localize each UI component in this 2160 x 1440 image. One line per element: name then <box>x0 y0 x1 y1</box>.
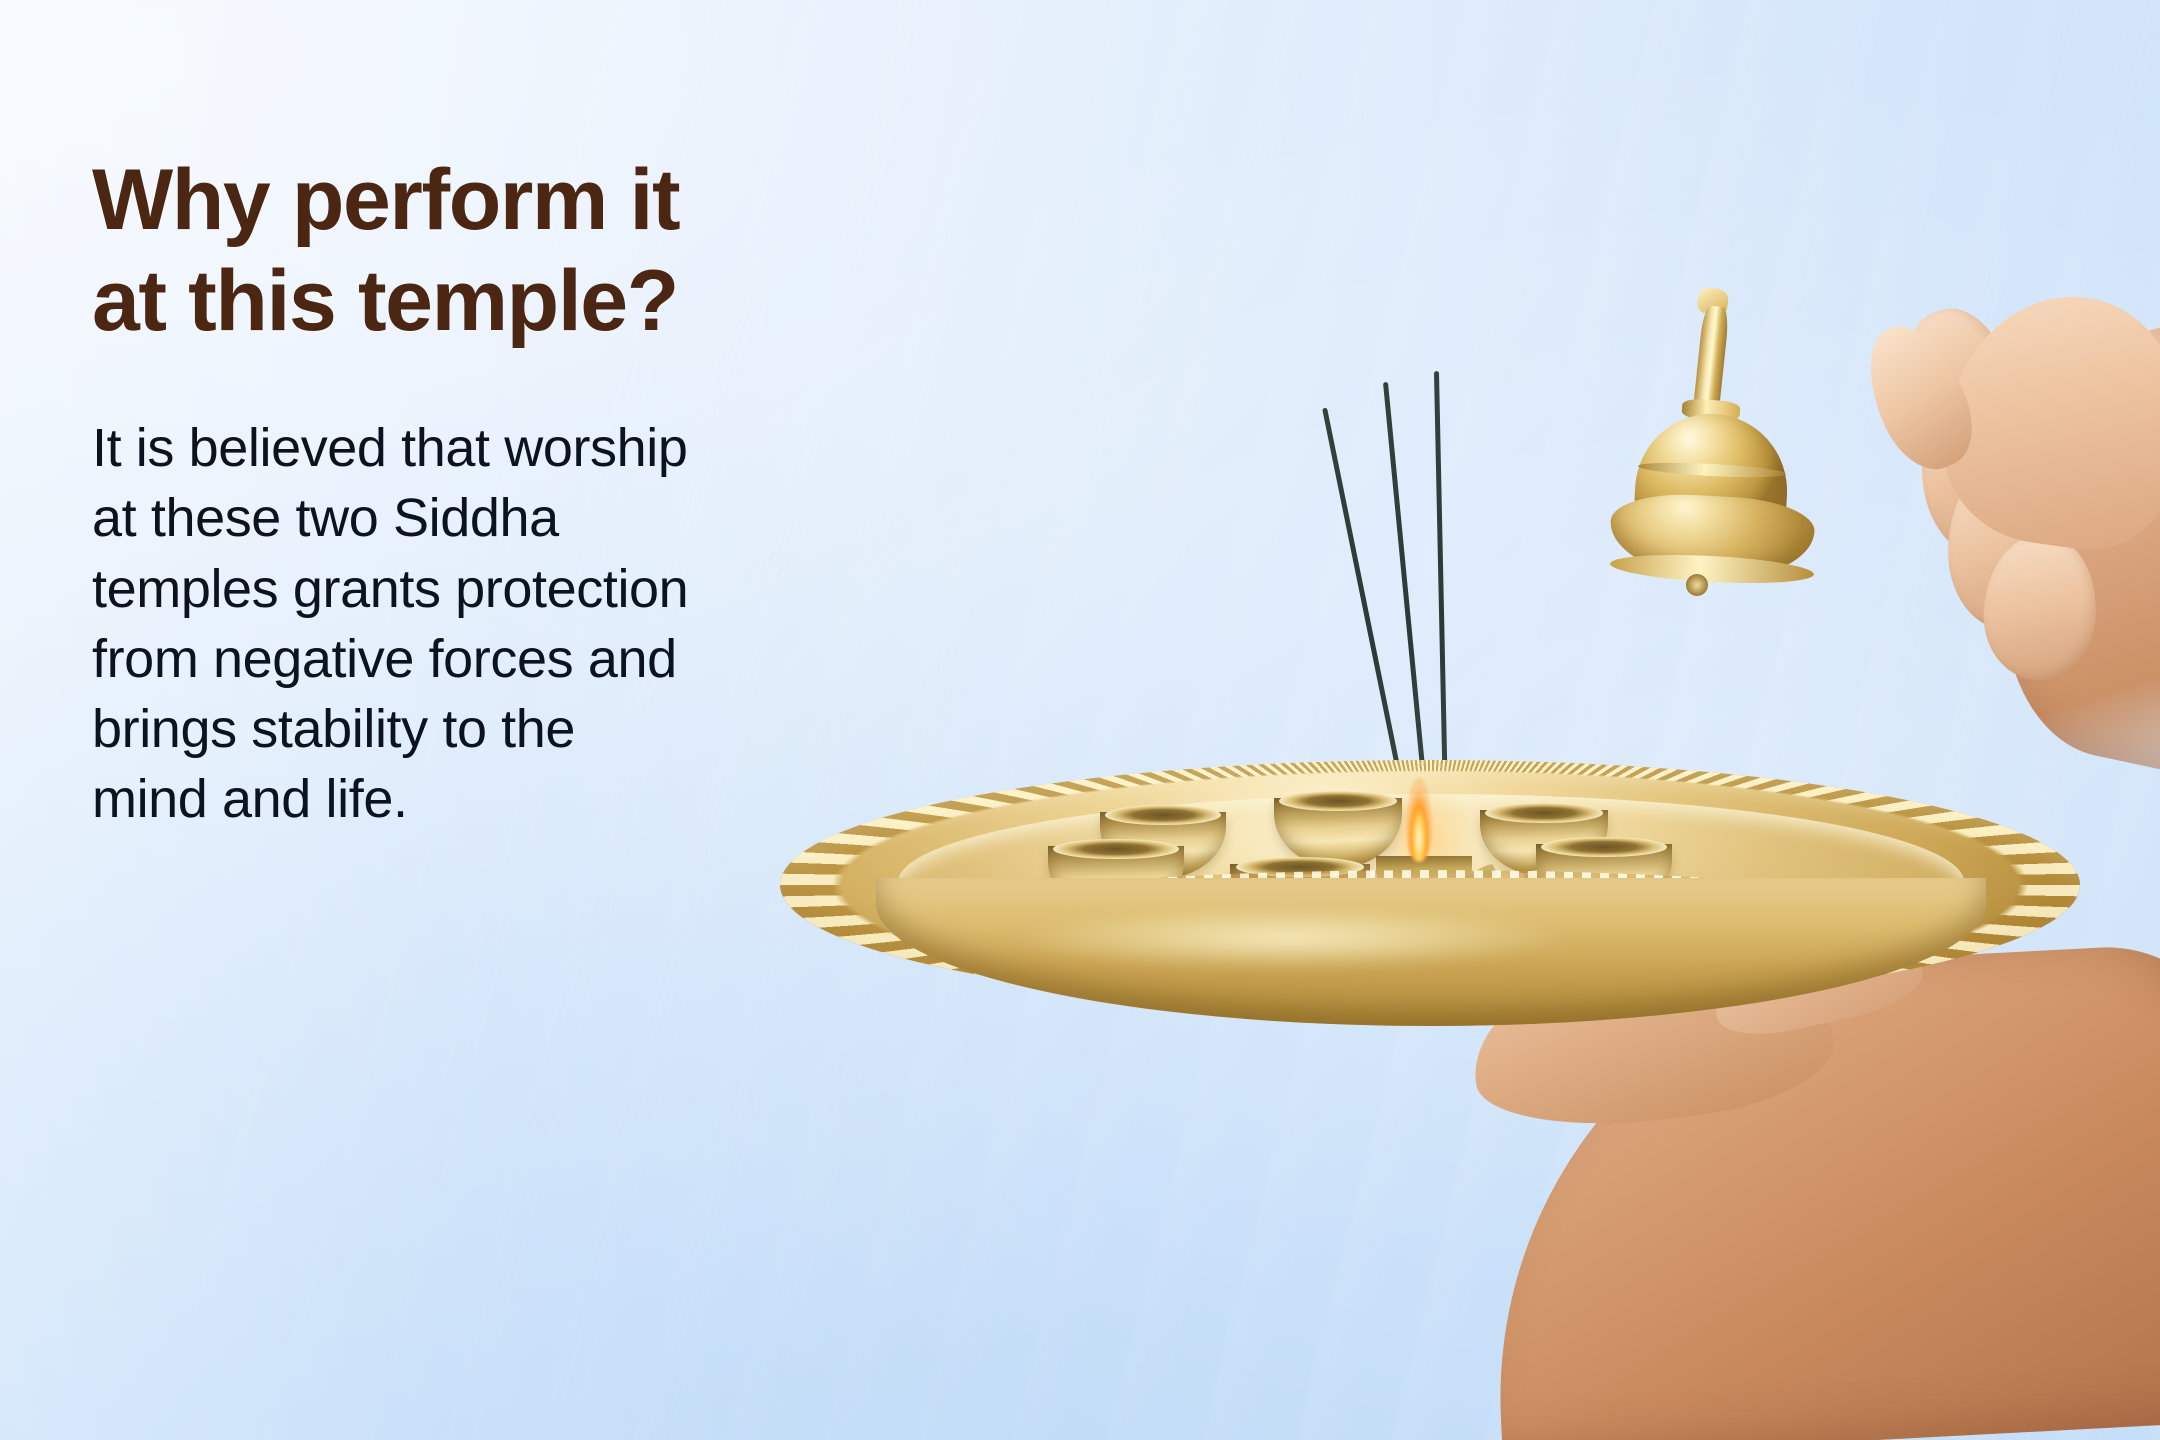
thali-specular-highlight <box>1010 906 1570 970</box>
puja-thali-photo <box>1020 0 2160 1440</box>
slide-canvas: Why perform it at this temple? It is bel… <box>0 0 2160 1440</box>
text-block: Why perform it at this temple? It is bel… <box>92 150 1092 834</box>
bell-clapper <box>1686 574 1708 596</box>
hand-upper <box>1772 270 2160 830</box>
page-title: Why perform it at this temple? <box>92 150 1092 351</box>
